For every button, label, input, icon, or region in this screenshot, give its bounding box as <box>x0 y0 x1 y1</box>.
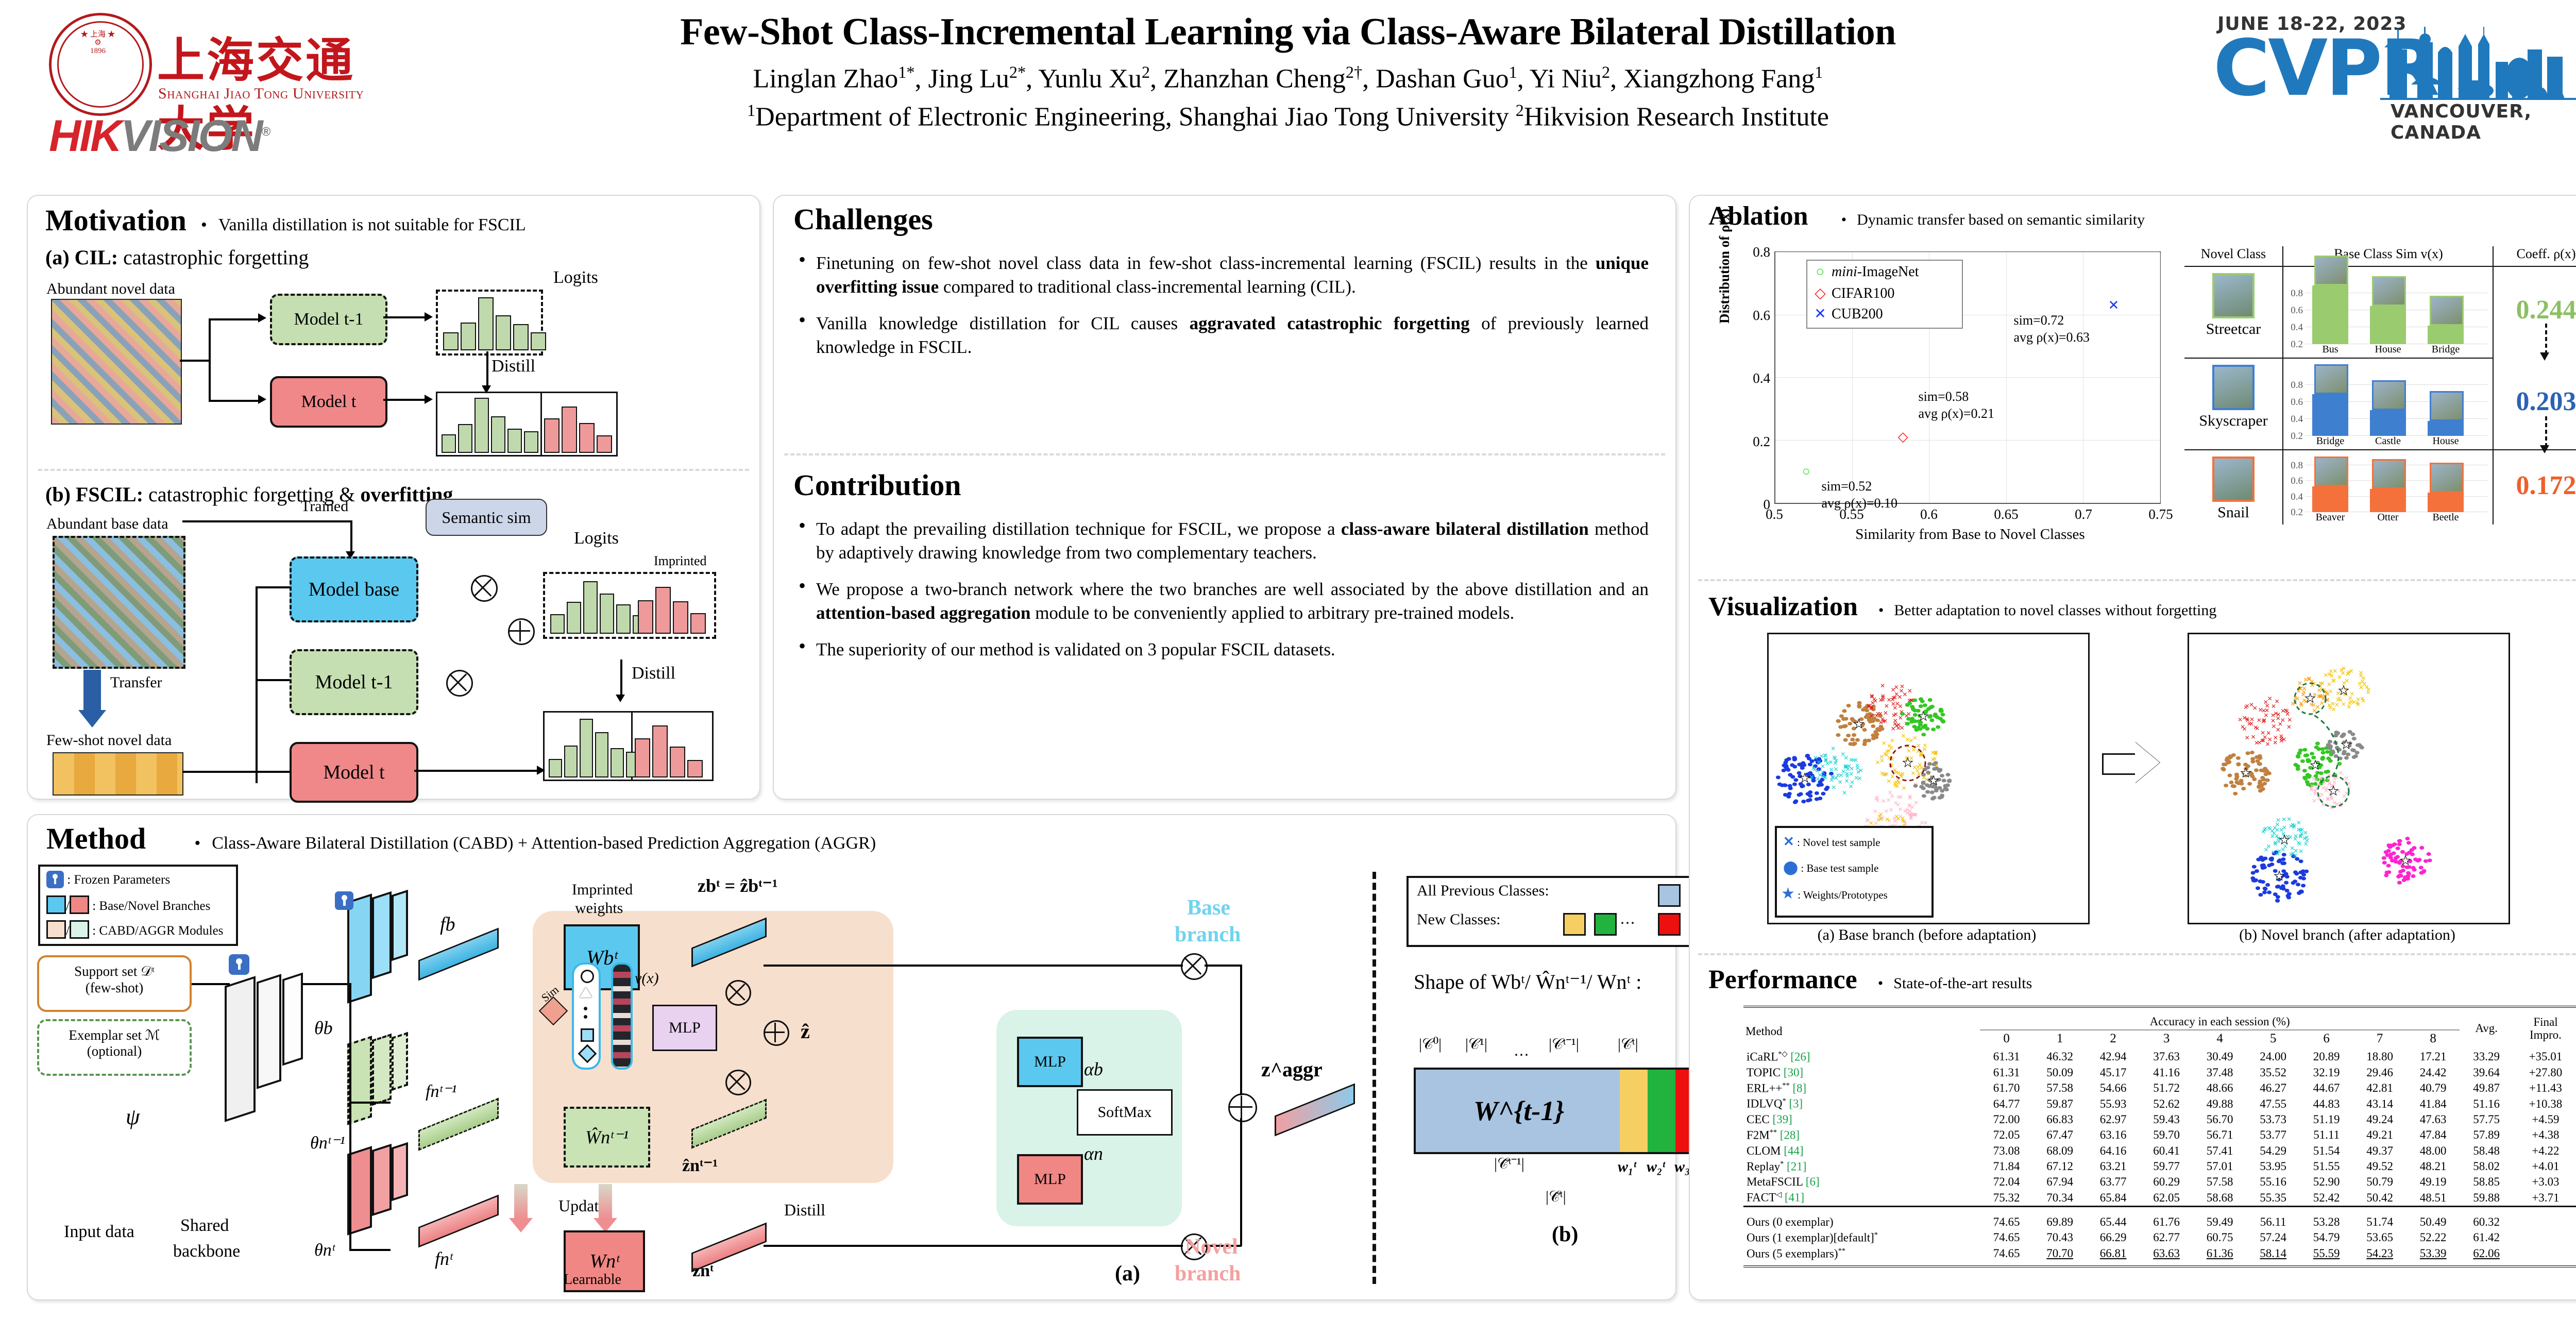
transfer-arrow-head <box>78 710 106 728</box>
logit-bar <box>673 601 688 634</box>
svg-text:✕: ✕ <box>2320 801 2326 808</box>
svg-text:✕: ✕ <box>2254 739 2259 747</box>
session-accuracy: 74.65 <box>1980 1230 2033 1246</box>
session-accuracy: 53.65 <box>2353 1230 2406 1246</box>
svg-text:✕: ✕ <box>1900 815 1905 822</box>
table-row: IDLVQ* [3]64.7759.8755.9352.6249.8847.55… <box>1743 1096 2576 1112</box>
connector <box>764 965 1183 967</box>
motivation-b-base-image-grid <box>53 536 185 669</box>
connector <box>256 586 290 588</box>
session-accuracy: 62.77 <box>2140 1230 2193 1246</box>
method-name: F2M** [28] <box>1743 1127 1980 1143</box>
svg-text:✕: ✕ <box>1842 789 1847 797</box>
final-improvement: +3.71 <box>2513 1190 2576 1206</box>
backbone-symbol: ψ <box>126 1104 140 1130</box>
session-accuracy: 66.81 <box>2087 1246 2140 1267</box>
session-accuracy: 58.68 <box>2193 1190 2247 1206</box>
session-accuracy: 48.51 <box>2406 1190 2460 1206</box>
session-accuracy: 30.49 <box>2193 1049 2247 1065</box>
svg-text:✕: ✕ <box>2345 670 2350 677</box>
svg-text:✕: ✕ <box>2329 672 2334 680</box>
svg-text:★: ★ <box>2274 870 2285 883</box>
alpha-n-label: αn <box>1084 1143 1103 1164</box>
novel-branch-label2: branch <box>1175 1261 1241 1286</box>
x-tick: Beaver <box>2303 512 2358 523</box>
update-arrow-head <box>509 1218 533 1232</box>
svg-text:✕: ✕ <box>1905 736 1910 743</box>
session-accuracy: 48.00 <box>2406 1143 2460 1159</box>
svg-text:✕: ✕ <box>2334 701 2340 708</box>
motivation-b-model-prev: Model t-1 <box>290 649 418 715</box>
session-header: 1 <box>2033 1030 2087 1049</box>
session-accuracy: 59.70 <box>2140 1127 2193 1143</box>
multiply-icon <box>725 980 751 1006</box>
f-n-vector-icon <box>418 1194 499 1247</box>
list-item: Finetuning on few-shot novel class data … <box>793 251 1649 298</box>
z-n-label: znᵗ <box>692 1261 714 1281</box>
svg-text:✕: ✕ <box>1881 718 1886 725</box>
session-accuracy: 46.32 <box>2033 1049 2087 1065</box>
session-accuracy: 24.42 <box>2406 1065 2460 1080</box>
svg-text:✕: ✕ <box>1885 816 1890 823</box>
session-accuracy: 18.80 <box>2353 1049 2406 1065</box>
th-method: Method <box>1743 1007 1980 1049</box>
legend-frozen-row: : Frozen Parameters <box>46 871 170 888</box>
average-accuracy: 33.29 <box>2460 1049 2513 1065</box>
x-tick: Bridge <box>2303 435 2358 447</box>
ablation-novel-class-cell: Skyscraper <box>2184 361 2282 447</box>
svg-text:✕: ✕ <box>1890 793 1895 800</box>
ablation-novel-class-cell: Snail <box>2184 452 2282 523</box>
svg-text:✕: ✕ <box>1884 702 1889 709</box>
motivation-b-logits2-green-box <box>543 711 633 781</box>
svg-text:✕: ✕ <box>2266 843 2271 850</box>
all-previous-classes-label: All Previous Classes: <box>1417 882 1549 900</box>
f-n-prev-vector-icon <box>418 1097 499 1151</box>
svg-text:✕: ✕ <box>2299 702 2304 709</box>
logit-bar <box>562 407 577 453</box>
session-accuracy: 35.52 <box>2246 1065 2300 1080</box>
gridline <box>1775 440 2160 441</box>
base-class-thumbnail <box>2314 364 2348 394</box>
average-accuracy: 39.64 <box>2460 1065 2513 1080</box>
x-tick: Bridge <box>2418 344 2473 356</box>
motivation-a-caption-rest: catastrophic forgetting <box>123 246 309 269</box>
session-accuracy: 52.62 <box>2140 1096 2193 1112</box>
svg-text:✕: ✕ <box>2346 703 2351 711</box>
table-row: Ours (5 exemplars)**74.6570.7066.8163.63… <box>1743 1246 2576 1267</box>
svg-text:✕: ✕ <box>1881 798 1886 805</box>
ablation-bar-chart: 0.80.60.40.2BusHouseBridge <box>2287 269 2488 356</box>
logit-bar <box>597 435 612 453</box>
svg-text:✕: ✕ <box>1879 757 1885 765</box>
sjtu-seal-inner-text: ★ 上海 ★⚙1896 <box>69 31 127 93</box>
performance-table-head: Method Accuracy in each session (%) Avg.… <box>1743 1007 2576 1049</box>
connector <box>349 983 351 1251</box>
list-item: To adapt the prevailing distillation tec… <box>793 517 1649 564</box>
session-accuracy: 57.41 <box>2193 1143 2247 1159</box>
performance-header: Performance • State-of-the-art results <box>1708 965 2032 995</box>
session-header: 2 <box>2087 1030 2140 1049</box>
svg-text:✕: ✕ <box>1831 784 1836 791</box>
svg-text:✕: ✕ <box>2298 848 2303 855</box>
shared-backbone-caption2: backbone <box>173 1242 240 1261</box>
motivation-a-logits-box-2 <box>436 392 542 456</box>
session-accuracy: 37.63 <box>2140 1049 2193 1065</box>
update-arrow-icon <box>599 1184 612 1219</box>
method-name: iCaRL*◇ [26] <box>1743 1049 1980 1065</box>
method-name: Ours (5 exemplars)** <box>1743 1246 1980 1267</box>
logit-bar <box>513 324 529 350</box>
sim-class-list <box>572 962 601 1070</box>
motivation-a-logits-box <box>436 290 543 356</box>
session-accuracy: 70.34 <box>2033 1190 2087 1206</box>
arrow-head <box>258 395 266 404</box>
th-impro-l2: Impro. <box>2530 1028 2562 1041</box>
gridline <box>1775 377 2160 378</box>
shape-c-prev-label: |𝒞̃ᵗ⁻¹| <box>1494 1155 1524 1173</box>
motivation-a-logits-label: Logits <box>553 268 598 288</box>
connector <box>1205 965 1242 967</box>
svg-text:✕: ✕ <box>2355 700 2360 707</box>
scatter-x-label: Similarity from Base to Novel Classes <box>1780 526 2161 543</box>
tsne-plot-a: ★✕✕✕✕✕✕✕✕✕✕✕✕✕✕✕✕✕✕✕✕✕✕✕✕✕✕✕✕✕✕✕✕✕✕✕✕✕✕✕… <box>1767 633 2090 924</box>
svg-text:★: ★ <box>2279 834 2290 847</box>
session-accuracy: 61.31 <box>1980 1049 2033 1065</box>
session-accuracy: 53.39 <box>2406 1246 2460 1267</box>
session-accuracy: 66.29 <box>2087 1230 2140 1246</box>
svg-text:✕: ✕ <box>2283 707 2289 714</box>
base-class-thumbnail <box>2314 256 2348 285</box>
svg-text:✕: ✕ <box>1898 793 1903 801</box>
session-accuracy: 67.12 <box>2033 1159 2087 1175</box>
new-classes-label: New Classes: <box>1417 911 1500 928</box>
session-accuracy: 62.97 <box>2087 1112 2140 1127</box>
svg-text:✕: ✕ <box>1881 771 1886 778</box>
logit-bar <box>544 418 560 453</box>
logit-bar <box>524 431 538 453</box>
x-tick: House <box>2418 435 2473 447</box>
connector <box>383 399 427 401</box>
svg-text:✕: ✕ <box>2286 723 2292 731</box>
lock-icon <box>335 891 353 914</box>
session-header: 4 <box>2193 1030 2247 1049</box>
motivation-b-model-cur: Model t <box>290 742 418 803</box>
motivation-b-logits2-red-bars <box>635 718 703 777</box>
x-tick: Otter <box>2361 512 2415 523</box>
hikvision-hik-text: HIK <box>49 111 121 161</box>
svg-text:✕: ✕ <box>1900 770 1905 777</box>
transfer-arrow-icon <box>83 670 101 711</box>
legend-branches-row: / : Base/Novel Branches <box>46 895 210 914</box>
svg-text:✕: ✕ <box>1891 725 1896 732</box>
svg-text:✕: ✕ <box>2262 717 2267 724</box>
final-improvement: +11.43 <box>2513 1080 2576 1096</box>
novel-class-thumbnail <box>2212 456 2255 502</box>
session-accuracy: 67.94 <box>2033 1174 2087 1190</box>
session-accuracy: 63.63 <box>2140 1246 2193 1267</box>
author-list: Linglan Zhao1*, Jing Lu2*, Yunlu Xu2, Zh… <box>392 63 2184 94</box>
w1-block-icon <box>1620 1068 1650 1154</box>
y-tick: 0.6 <box>2287 476 2303 487</box>
svg-text:✕: ✕ <box>2243 704 2248 711</box>
svg-text:✕: ✕ <box>2342 793 2347 800</box>
y-tick: 0.2 <box>2287 339 2303 350</box>
logit-bar <box>690 613 706 634</box>
method-b-legend-box: All Previous Classes: New Classes: ⋯ <box>1406 876 1699 947</box>
v-x-label: v(x) <box>635 970 659 987</box>
session-accuracy: 29.46 <box>2353 1065 2406 1080</box>
svg-text:✕: ✕ <box>2341 701 2346 708</box>
y-tick: 0.8 <box>2287 460 2303 471</box>
svg-text:✕: ✕ <box>1895 783 1900 790</box>
session-accuracy: 63.16 <box>2087 1127 2140 1143</box>
learnable-weights-label1: Learnable <box>564 1272 621 1288</box>
session-accuracy: 70.70 <box>2033 1246 2087 1267</box>
w1-label: w₁ᵗ <box>1618 1158 1636 1176</box>
table-row: CLOM [44]73.0868.0964.1660.4157.4154.295… <box>1743 1143 2576 1159</box>
session-accuracy: 48.21 <box>2406 1159 2460 1175</box>
novel-sample-x-icon: ✕ <box>1783 834 1794 849</box>
shape-c1-label: |𝒞¹| <box>1465 1036 1487 1053</box>
registered-mark-icon: ® <box>262 125 269 139</box>
logit-bar <box>638 600 653 634</box>
session-accuracy: 51.54 <box>2300 1143 2353 1159</box>
challenges-heading: Challenges <box>793 202 933 236</box>
svg-text:✕: ✕ <box>2328 704 2333 712</box>
ablation-col-coeff: Coeff. ρ(x) <box>2496 246 2576 262</box>
legend-frozen-text: : Frozen Parameters <box>67 873 170 887</box>
shape-title: Shape of Wbᵗ/ Ŵnᵗ⁻¹/ Wnᵗ : <box>1414 970 1641 994</box>
svg-text:✕: ✕ <box>1822 773 1827 781</box>
motivation-heading: Motivation <box>45 204 187 237</box>
shape-c-cur-label: |𝒞̃ᵗ| <box>1546 1188 1566 1206</box>
session-accuracy: 60.29 <box>2140 1174 2193 1190</box>
session-accuracy: 59.43 <box>2140 1112 2193 1127</box>
session-accuracy: 20.89 <box>2300 1049 2353 1065</box>
arrow-head <box>616 695 625 702</box>
svg-text:✕: ✕ <box>2319 692 2325 700</box>
shared-backbone-caption1: Shared <box>180 1216 229 1236</box>
y-tick: 0.4 <box>2287 414 2303 425</box>
sim-bar <box>2370 410 2406 436</box>
session-accuracy: 51.19 <box>2300 1112 2353 1127</box>
connector <box>1240 965 1242 1095</box>
support-set-box: Support set 𝒟ᵗ (few-shot) <box>37 955 192 1012</box>
motivation-a-logits-bars-3 <box>544 397 612 453</box>
svg-text:✕: ✕ <box>2280 846 2285 853</box>
method-name: CEC [39] <box>1743 1112 1980 1127</box>
svg-text:✕: ✕ <box>1829 776 1834 784</box>
legend-item-CIFAR100: ◇ CIFAR100 <box>1812 284 1894 302</box>
update-arrow-icon <box>514 1184 528 1219</box>
svg-text:✕: ✕ <box>1813 754 1818 762</box>
svg-text:✕: ✕ <box>2302 835 2307 842</box>
final-improvement: +4.59 <box>2513 1112 2576 1127</box>
method-name: Replay* [21] <box>1743 1159 1980 1175</box>
method-name: CLOM [44] <box>1743 1143 1980 1159</box>
legend-modules-text: : CABD/AGGR Modules <box>92 924 223 938</box>
session-accuracy: 53.73 <box>2246 1112 2300 1127</box>
session-header: 3 <box>2140 1030 2193 1049</box>
visualization-caption-a: (a) Base branch (before adaptation) <box>1767 926 2087 944</box>
table-row: F2M** [28]72.0567.4763.1659.7056.7153.77… <box>1743 1127 2576 1143</box>
svg-text:✕: ✕ <box>2270 849 2276 856</box>
motivation-a-data-label: Abundant novel data <box>46 280 175 298</box>
visualization-subtitle: Better adaptation to novel classes witho… <box>1894 602 2216 619</box>
f-b-vector-icon <box>418 927 499 980</box>
connector <box>180 360 211 362</box>
svg-text:★: ★ <box>2400 854 2411 868</box>
theta-b-label: θb <box>314 1017 333 1039</box>
lock-icon <box>229 954 249 975</box>
session-accuracy: 49.21 <box>2353 1127 2406 1143</box>
session-accuracy: 55.35 <box>2246 1190 2300 1206</box>
theta-n-prev-label: θnᵗ⁻¹ <box>310 1132 345 1153</box>
connector <box>209 318 211 402</box>
coefficient-value: 0.244 <box>2496 295 2576 325</box>
scatter-annotation: sim=0.58avg ρ(x)=0.21 <box>1919 388 1995 422</box>
plus-icon <box>764 1020 789 1046</box>
y-tick: 0.8 <box>1743 244 1770 260</box>
session-accuracy: 24.00 <box>2246 1049 2300 1065</box>
svg-text:✕: ✕ <box>2276 726 2281 734</box>
method-name: MetaFSCIL [6] <box>1743 1174 1980 1190</box>
motivation-b-distill-label: Distill <box>632 664 675 683</box>
final-improvement: +27.80 <box>2513 1065 2576 1080</box>
session-accuracy: 74.65 <box>1980 1206 2033 1230</box>
svg-text:✕: ✕ <box>2311 775 2316 783</box>
logit-bar <box>550 614 565 634</box>
exemplar-set-label: Exemplar set ℳ <box>39 1027 190 1043</box>
x-tick: 0.75 <box>2140 506 2181 522</box>
average-accuracy: 62.06 <box>2460 1246 2513 1267</box>
svg-text:✕: ✕ <box>1856 768 1861 775</box>
logit-bar <box>443 332 459 350</box>
session-accuracy: 66.83 <box>2033 1112 2087 1127</box>
session-accuracy: 47.63 <box>2406 1112 2460 1127</box>
motivation-b-logits2-red-box <box>630 711 714 781</box>
svg-text:✕: ✕ <box>1887 742 1892 750</box>
session-accuracy: 72.00 <box>1980 1112 2033 1127</box>
svg-text:✕: ✕ <box>2279 733 2284 740</box>
average-accuracy: 59.88 <box>2460 1190 2513 1206</box>
motivation-subtitle: Vanilla distillation is not suitable for… <box>218 215 526 234</box>
connector <box>350 520 352 554</box>
support-set-label: Support set 𝒟ᵗ <box>39 963 190 980</box>
th-impro: Final Impro. <box>2513 1007 2576 1049</box>
motivation-b-novel-label: Few-shot novel data <box>46 732 172 749</box>
session-accuracy: 50.49 <box>2406 1206 2460 1230</box>
svg-text:✕: ✕ <box>1831 745 1836 752</box>
svg-text:✕: ✕ <box>2270 712 2276 719</box>
y-tick: 0.2 <box>2287 431 2303 442</box>
svg-text:✕: ✕ <box>1893 800 1899 807</box>
svg-text:✕: ✕ <box>1888 806 1893 814</box>
connector <box>349 1249 391 1251</box>
svg-text:✕: ✕ <box>2245 734 2250 741</box>
W-prev-block: W^{t-1} <box>1414 1068 1624 1154</box>
scatter-y-label: Distribution of ρ(x) <box>1717 209 1733 324</box>
final-improvement: +4.38 <box>2513 1127 2576 1143</box>
support-set-sublabel: (few-shot) <box>39 980 190 996</box>
exemplar-set-box: Exemplar set ℳ (optional) <box>37 1019 192 1076</box>
base-class-thumbnail <box>2430 463 2464 493</box>
sjtu-english-name: Shanghai Jiao Tong University <box>158 85 364 103</box>
motivation-a-caption: (a) CIL: catastrophic forgetting <box>45 245 309 269</box>
session-accuracy: 65.44 <box>2087 1206 2140 1230</box>
svg-text:✕: ✕ <box>1906 711 1911 718</box>
session-accuracy: 61.31 <box>1980 1065 2033 1080</box>
session-accuracy: 51.55 <box>2300 1159 2353 1175</box>
session-header: 6 <box>2300 1030 2353 1049</box>
poster-header: ★ 上海 ★⚙1896 上海交通大学 Shanghai Jiao Tong Un… <box>0 0 2576 191</box>
exemplar-set-sublabel: (optional) <box>39 1043 190 1059</box>
base-class-thumbnail <box>2372 459 2406 489</box>
motivation-b-base-label: Abundant base data <box>46 515 168 533</box>
svg-text:✕: ✕ <box>2263 699 2268 706</box>
svg-text:✕: ✕ <box>2296 826 2301 833</box>
tsne-legend: ✕ : Novel test sample ⬤ : Base test samp… <box>1775 826 1934 918</box>
scatter-annotation: sim=0.72avg ρ(x)=0.63 <box>2014 312 2090 346</box>
session-accuracy: 51.11 <box>2300 1127 2353 1143</box>
svg-text:★: ★ <box>2341 738 2352 752</box>
method-name: FACT◁ [41] <box>1743 1190 1980 1206</box>
w2-block-icon <box>1648 1068 1677 1154</box>
shape-c0-label: |𝒞⁰| <box>1419 1036 1442 1053</box>
y-tick: 0.4 <box>2287 492 2303 503</box>
session-accuracy: 72.04 <box>1980 1174 2033 1190</box>
sim-bar <box>2312 486 2348 512</box>
base-class-thumbnail <box>2430 296 2464 326</box>
logit-bar <box>583 581 598 634</box>
svg-text:✕: ✕ <box>1883 709 1888 717</box>
svg-text:★: ★ <box>1902 756 1913 770</box>
results-panel: Ablation • Dynamic transfer based on sem… <box>1689 195 2576 1300</box>
svg-text:✕: ✕ <box>2297 840 2302 848</box>
svg-text:✕: ✕ <box>2261 828 2266 836</box>
svg-text:✕: ✕ <box>1882 740 1887 747</box>
motivation-a-model-cur: Model t <box>270 376 387 428</box>
method-panel: Method • Class-Aware Bilateral Distillat… <box>27 814 1676 1300</box>
y-tick: 0.6 <box>2287 305 2303 316</box>
x-tick: Beetle <box>2418 512 2473 523</box>
svg-text:✕: ✕ <box>2255 725 2260 732</box>
svg-text:✕: ✕ <box>1919 819 1924 826</box>
session-accuracy: 67.47 <box>2033 1127 2087 1143</box>
svg-text:✕: ✕ <box>2323 671 2328 679</box>
shape-ct1-label: |𝒞ᵗ⁻¹| <box>1549 1036 1579 1053</box>
svg-text:✕: ✕ <box>1897 694 1902 701</box>
gridline <box>2006 252 2007 503</box>
svg-text:✕: ✕ <box>2282 824 2287 832</box>
svg-text:✕: ✕ <box>2247 720 2252 728</box>
session-accuracy: 52.90 <box>2300 1174 2353 1190</box>
visualization-heading: Visualization <box>1708 592 1858 621</box>
logit-bar <box>652 725 668 777</box>
session-accuracy: 53.95 <box>2246 1159 2300 1175</box>
svg-text:✕: ✕ <box>2319 791 2325 799</box>
svg-text:★: ★ <box>2338 684 2349 698</box>
table-header-row-1: Method Accuracy in each session (%) Avg.… <box>1743 1007 2576 1030</box>
session-accuracy: 44.67 <box>2300 1080 2353 1096</box>
svg-text:✕: ✕ <box>1869 704 1874 712</box>
performance-table: Method Accuracy in each session (%) Avg.… <box>1743 1006 2576 1267</box>
ellipsis-label: ⋯ <box>1620 914 1635 932</box>
table-row: CEC [39]72.0066.8362.9759.4356.7053.7351… <box>1743 1112 2576 1127</box>
session-accuracy: 56.11 <box>2246 1206 2300 1230</box>
ablation-bar-chart: 0.80.60.40.2BridgeCastleHouse <box>2287 361 2488 447</box>
